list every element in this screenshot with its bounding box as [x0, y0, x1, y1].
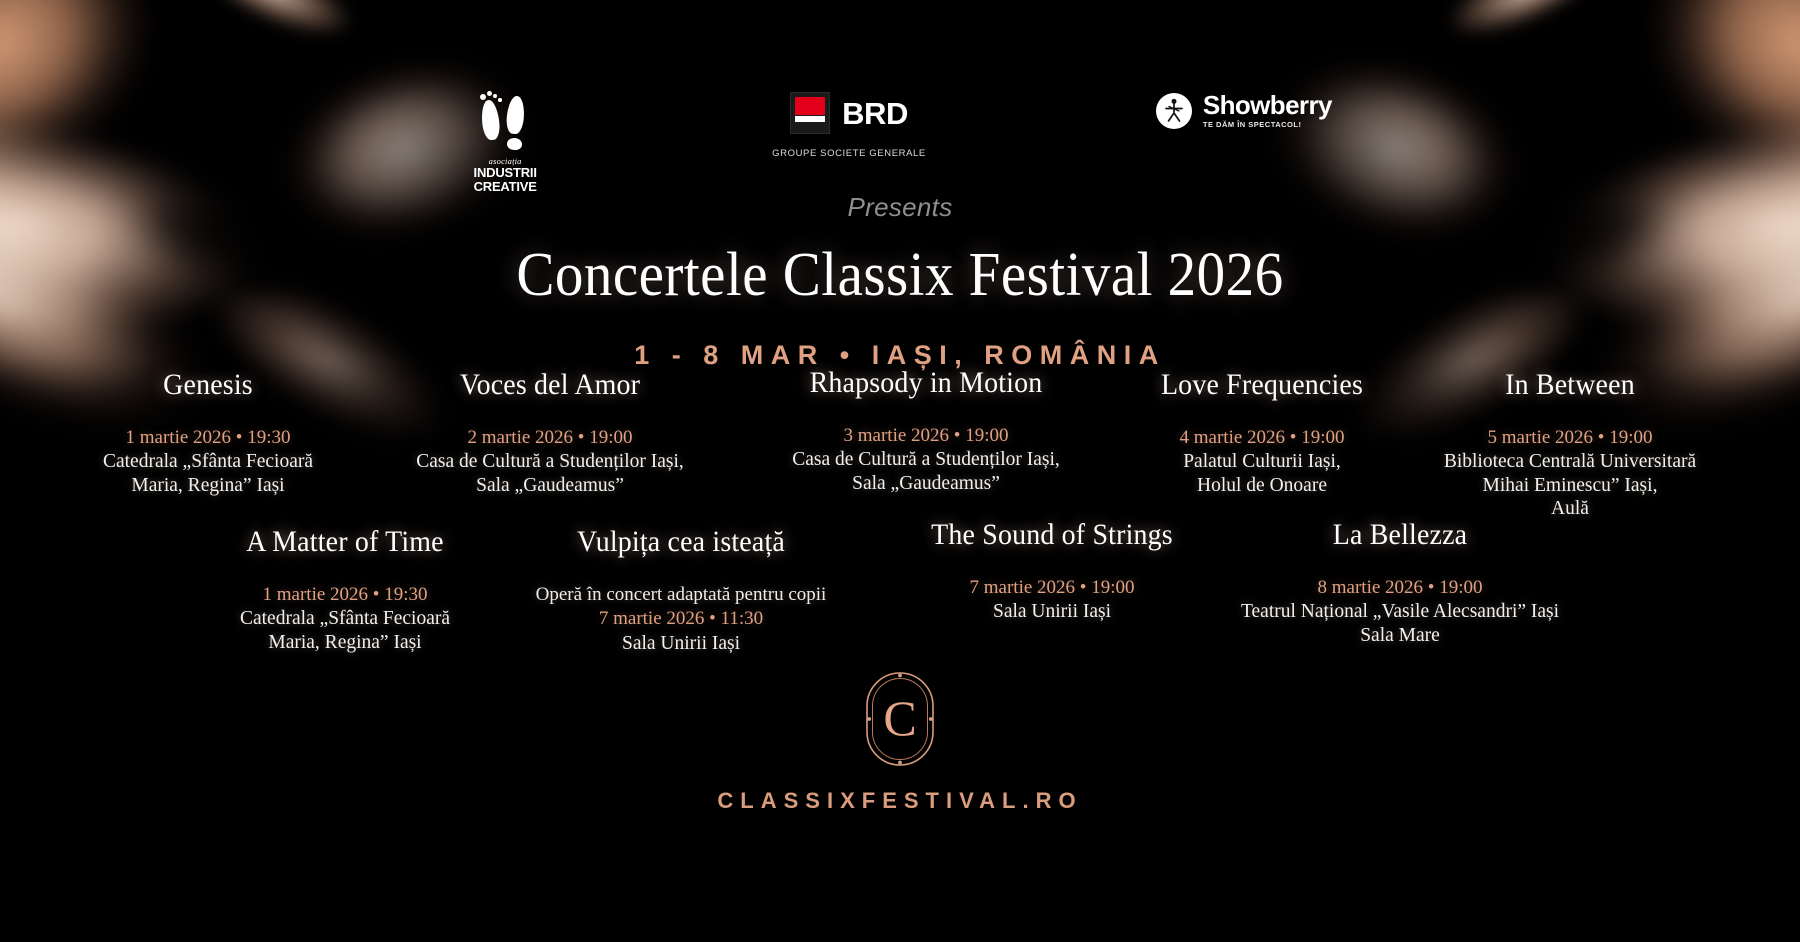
concert-date: 5 martie 2026 • 19:00 [1400, 426, 1740, 450]
concert-title: La Bellezza [1214, 518, 1586, 552]
classix-monogram-icon[interactable]: C [863, 669, 937, 769]
concert-date: 1 martie 2026 • 19:30 [175, 583, 515, 607]
concert-card[interactable]: A Matter of Time 1 martie 2026 • 19:30 C… [175, 525, 515, 654]
presents-label: Presents [0, 192, 1800, 223]
industrii-creative-line1: INDUSTRII [468, 166, 542, 180]
concert-card[interactable]: In Between 5 martie 2026 • 19:00 Bibliot… [1400, 368, 1740, 521]
svg-text:C: C [883, 690, 916, 746]
brd-tagline: GROUPE SOCIETE GENERALE [772, 148, 926, 159]
concert-venue: Casa de Cultură a Studenților Iași, Sala… [380, 450, 720, 497]
festival-poster: asociația INDUSTRII CREATIVE BRD GROUPE … [0, 0, 1800, 942]
footprint-right-sole [506, 95, 526, 134]
website-url[interactable]: CLASSIXFESTIVAL.RO [717, 788, 1082, 814]
concert-title: Love Frequencies [1123, 368, 1402, 402]
concert-title: Rhapsody in Motion [760, 366, 1091, 400]
concert-card[interactable]: Love Frequencies 4 martie 2026 • 19:00 P… [1112, 368, 1412, 497]
concert-venue: Catedrala „Sfânta Fecioară Maria, Regina… [175, 607, 515, 654]
concert-card[interactable]: Rhapsody in Motion 3 martie 2026 • 19:00… [748, 366, 1104, 495]
concert-card[interactable]: Vulpița cea isteață Operă în concert ada… [500, 525, 862, 655]
concert-date: 7 martie 2026 • 11:30 [500, 607, 862, 631]
concert-date: 7 martie 2026 • 19:00 [862, 576, 1242, 600]
concert-date: 4 martie 2026 • 19:00 [1112, 426, 1412, 450]
logo-showberry[interactable]: Showberry TE DĂM ÎN SPECTACOL! [1156, 92, 1332, 129]
brd-wordmark: BRD [842, 98, 908, 129]
brd-square-logo-icon [790, 92, 830, 134]
logo-brd[interactable]: BRD GROUPE SOCIETE GENERALE [772, 92, 926, 159]
showberry-figure-icon [1156, 93, 1192, 129]
concert-venue: Casa de Cultură a Studenților Iași, Sala… [748, 448, 1104, 495]
brd-white-band [795, 116, 825, 122]
showberry-wordmark: Showberry [1203, 92, 1332, 118]
showberry-tagline: TE DĂM ÎN SPECTACOL! [1203, 120, 1332, 129]
footprint-toe-1 [480, 94, 486, 100]
concert-title: Voces del Amor [392, 368, 708, 402]
footprints-icon [468, 92, 542, 154]
footprint-toe-4 [498, 98, 502, 102]
concert-title: The Sound of Strings [875, 518, 1228, 552]
footprint-toe-2 [487, 91, 492, 96]
concert-venue: Sala Unirii Iași [862, 600, 1242, 623]
page-title: Concertele Classix Festival 2026 [72, 240, 1728, 311]
concert-venue: Palatul Culturii Iași, Holul de Onoare [1112, 450, 1412, 497]
concert-date: 3 martie 2026 • 19:00 [748, 424, 1104, 448]
concert-venue: Catedrala „Sfânta Fecioară Maria, Regina… [38, 450, 378, 497]
concert-date: 2 martie 2026 • 19:00 [380, 426, 720, 450]
concert-card[interactable]: Genesis 1 martie 2026 • 19:30 Catedrala … [38, 368, 378, 497]
concert-note: Operă în concert adaptată pentru copii [500, 583, 862, 606]
footprint-right-heel [507, 137, 523, 150]
concert-venue: Sala Unirii Iași [500, 632, 862, 655]
concert-venue: Biblioteca Centrală Universitară Mihai E… [1400, 450, 1740, 520]
concert-date: 1 martie 2026 • 19:30 [38, 426, 378, 450]
footprint-left-sole [480, 99, 501, 141]
concert-card[interactable]: The Sound of Strings 7 martie 2026 • 19:… [862, 518, 1242, 624]
footprint-toe-3 [493, 94, 497, 98]
concert-date: 8 martie 2026 • 19:00 [1200, 576, 1600, 600]
concert-title: Genesis [50, 368, 366, 402]
logo-industrii-creative[interactable]: asociația INDUSTRII CREATIVE [468, 92, 542, 193]
brd-red-band [795, 97, 825, 115]
concert-title: In Between [1412, 368, 1728, 402]
concert-title: Vulpița cea isteață [513, 525, 850, 559]
concert-title: A Matter of Time [187, 525, 503, 559]
concert-card[interactable]: La Bellezza 8 martie 2026 • 19:00 Teatru… [1200, 518, 1600, 647]
concert-card[interactable]: Voces del Amor 2 martie 2026 • 19:00 Cas… [380, 368, 720, 497]
sponsor-logo-bar: asociația INDUSTRII CREATIVE BRD GROUPE … [0, 92, 1800, 193]
poster-footer: C CLASSIXFESTIVAL.RO [0, 669, 1800, 814]
concert-venue: Teatrul Național „Vasile Alecsandri” Iaș… [1200, 600, 1600, 647]
